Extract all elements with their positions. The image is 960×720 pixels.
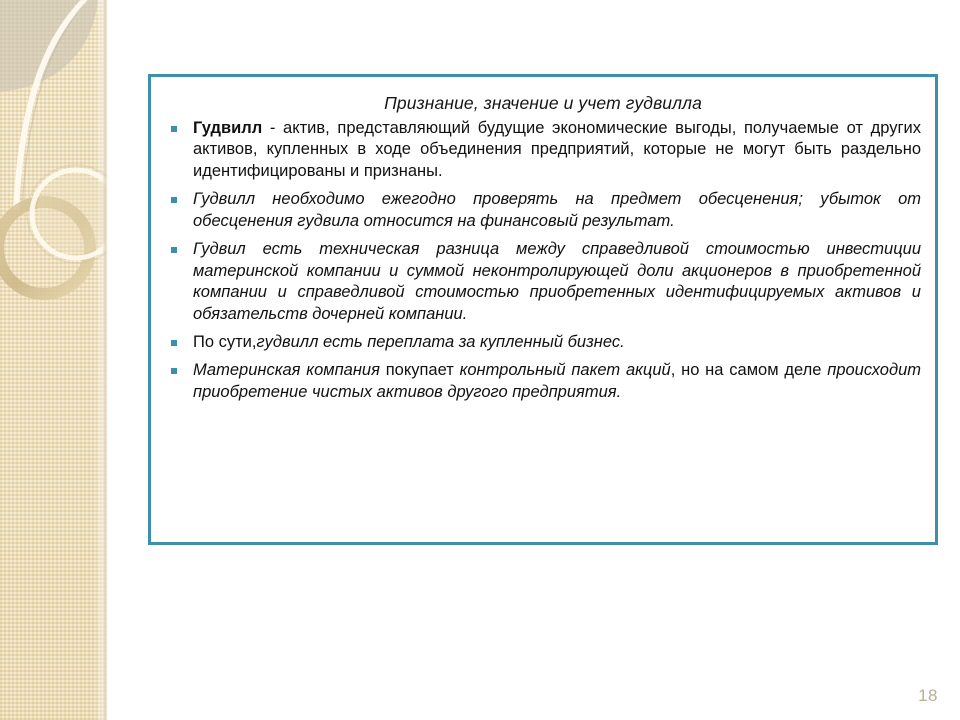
square-bullet-icon — [171, 247, 177, 253]
bullet-segment: , но на самом деле — [671, 361, 828, 379]
bullet-segment: покупает — [380, 361, 460, 379]
bullet-segment: гудвилл есть переплата за купленный бизн… — [256, 333, 624, 351]
page-number: 18 — [918, 686, 938, 706]
list-item: По сути,гудвилл есть переплата за куплен… — [167, 332, 921, 353]
bullet-segment: Гудвилл — [193, 119, 262, 137]
list-item: Гудвил есть техническая разница между сп… — [167, 239, 921, 325]
sidebar-ornament-graphic — [0, 0, 108, 720]
slide-title: Признание, значение и учет гудвилла — [151, 93, 935, 114]
square-bullet-icon — [171, 368, 177, 374]
square-bullet-icon — [171, 126, 177, 132]
list-item: Материнская компания покупает контрольны… — [167, 360, 921, 403]
sidebar-right-edge — [102, 0, 108, 720]
bullet-segment: контрольный пакет акций — [460, 361, 671, 379]
slide-content-box: Признание, значение и учет гудвилла Гудв… — [148, 74, 938, 545]
list-item: Гудвилл - актив, представляющий будущие … — [167, 118, 921, 182]
bullet-segment: Гудвил есть техническая разница между сп… — [193, 240, 921, 322]
bullet-segment: Материнская компания — [193, 361, 380, 379]
decorative-sidebar — [0, 0, 108, 720]
list-item: Гудвилл необходимо ежегодно проверять на… — [167, 189, 921, 232]
bullet-segment: Гудвилл необходимо ежегодно проверять на… — [193, 190, 921, 229]
square-bullet-icon — [171, 340, 177, 346]
sidebar-ring-fill — [36, 174, 108, 254]
bullet-list: Гудвилл - актив, представляющий будущие … — [151, 118, 935, 403]
bullet-segment: - актив, представляющий будущие экономич… — [193, 119, 921, 180]
bullet-segment: По сути, — [193, 333, 256, 351]
square-bullet-icon — [171, 197, 177, 203]
